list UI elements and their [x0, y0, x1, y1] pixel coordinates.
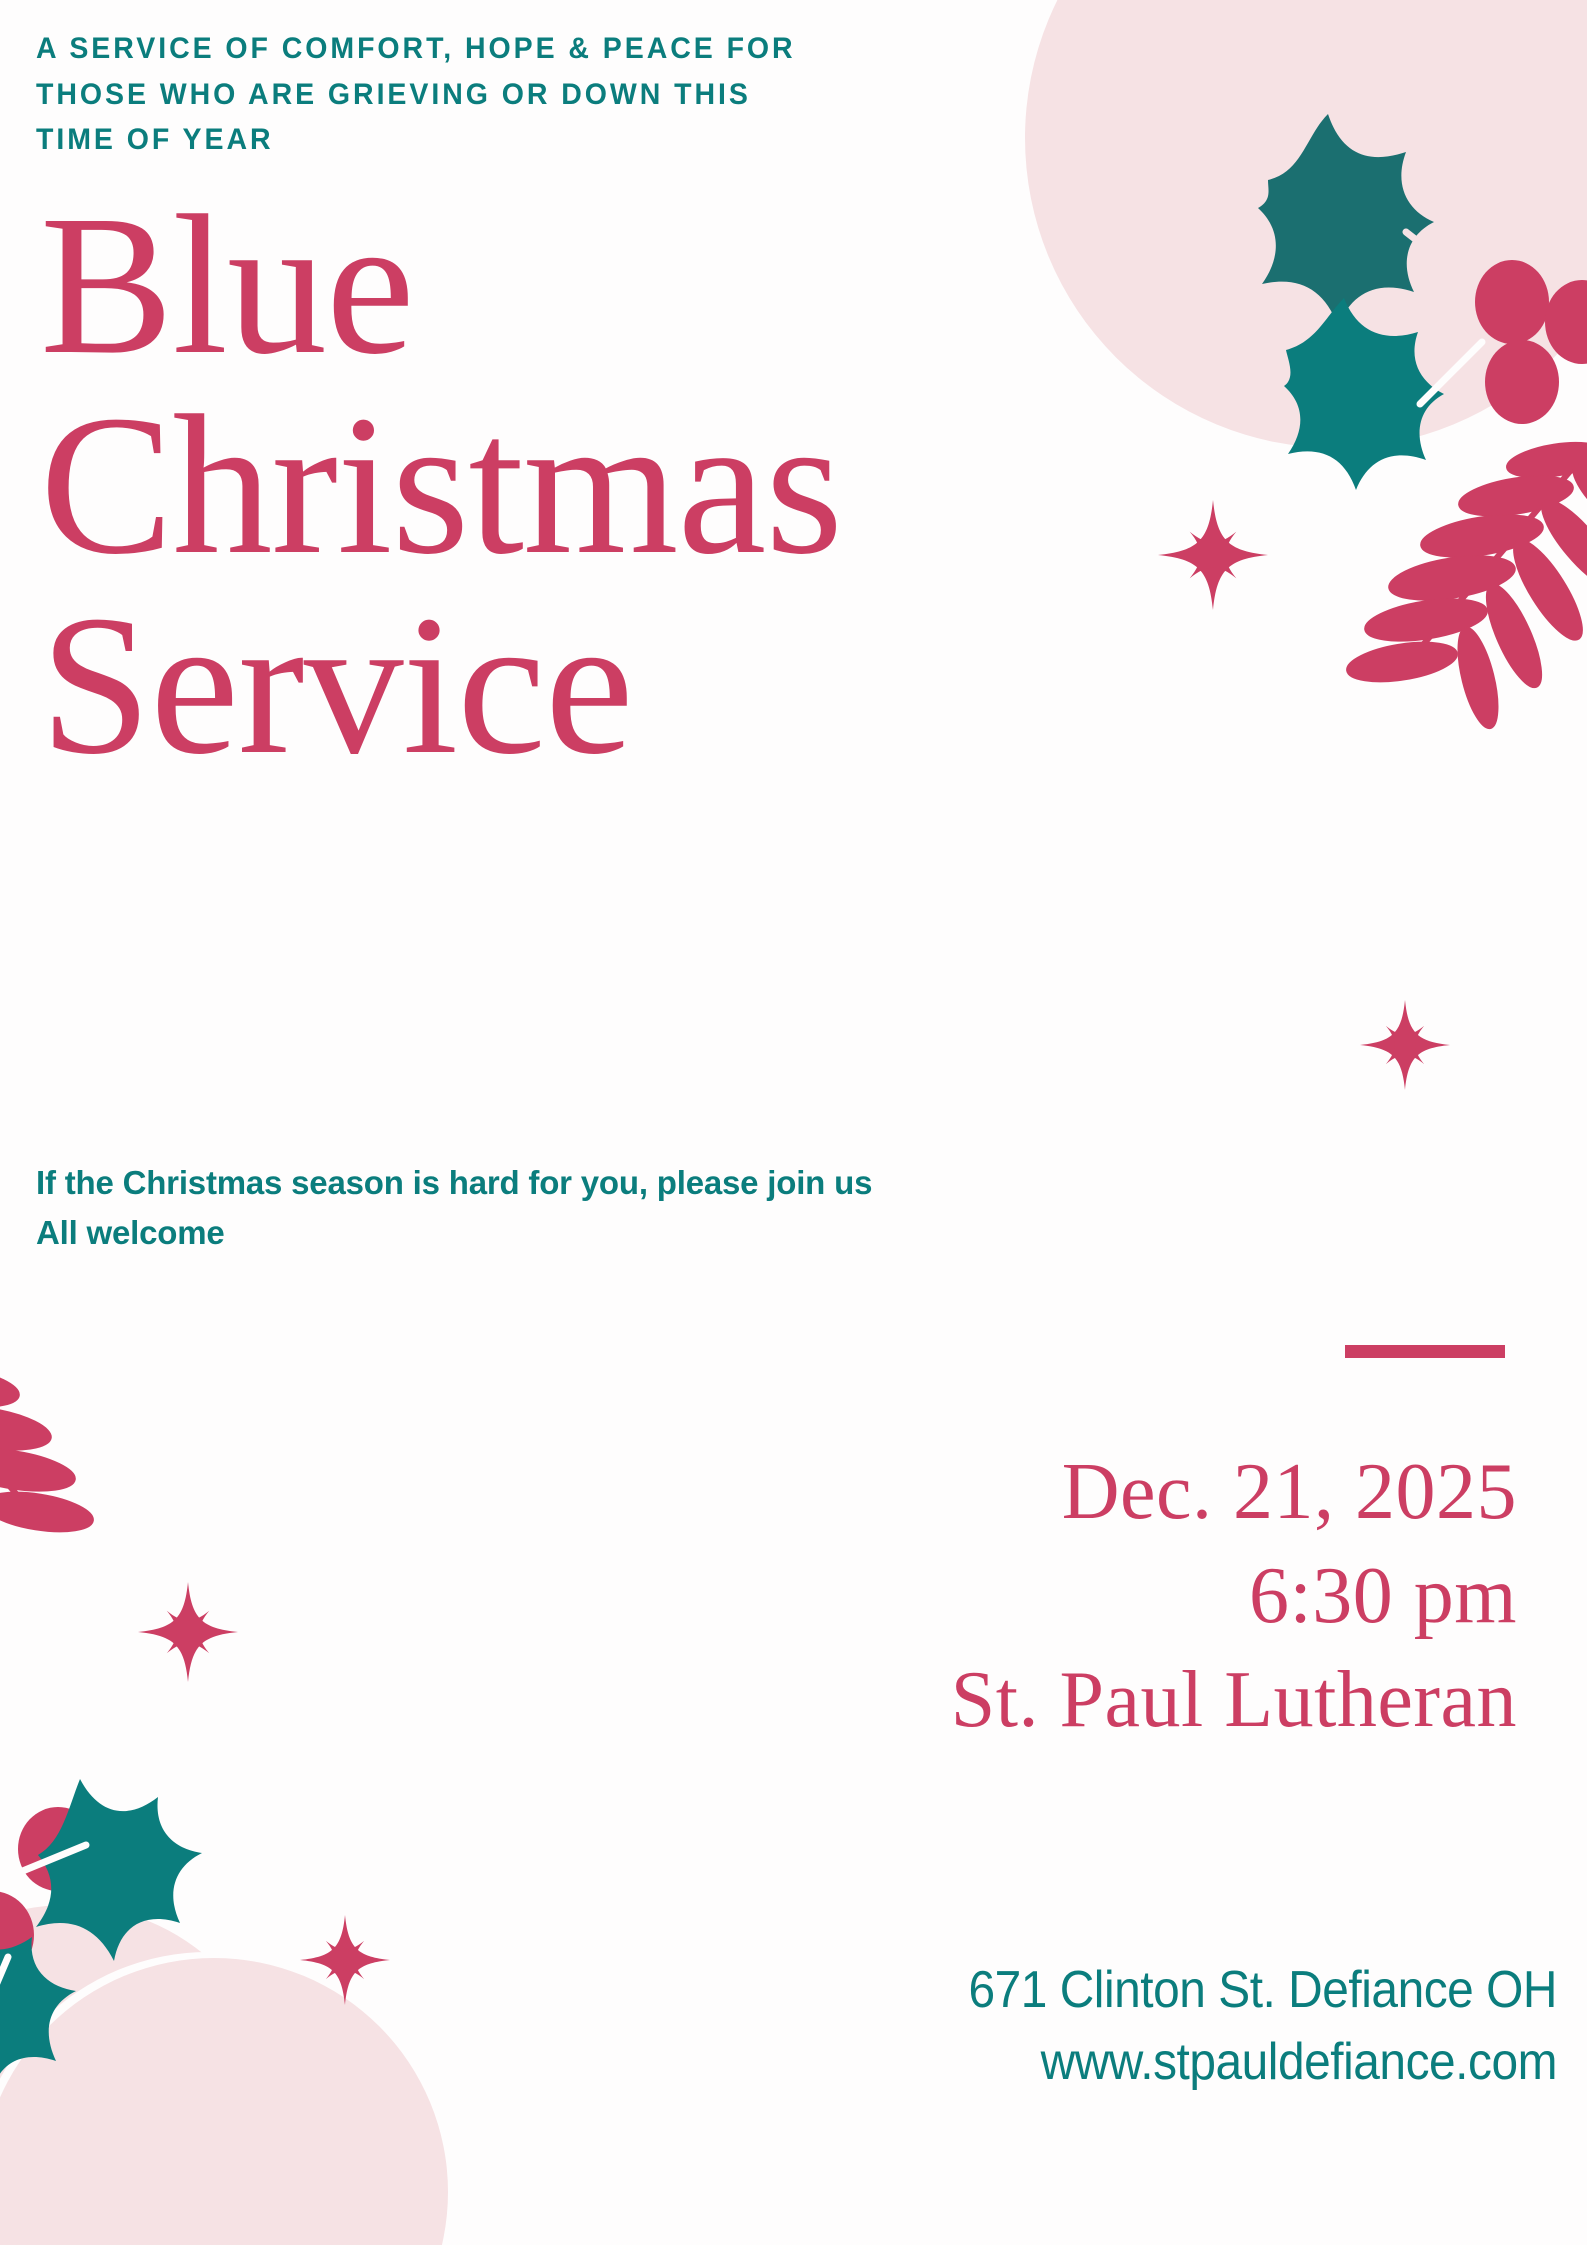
contact-website[interactable]: www.stpauldefiance.com — [453, 2027, 1557, 2099]
fern-frond-left-icon — [0, 1290, 170, 1550]
blush-circle-top-right — [1025, 0, 1587, 448]
fern-frond-right-icon — [1270, 440, 1587, 700]
eyebrow-line-1: A SERVICE OF COMFORT, HOPE & — [36, 32, 592, 65]
poster-canvas: A SERVICE OF COMFORT, HOPE & PEACE FOR T… — [0, 0, 1587, 2245]
eyebrow-text: A SERVICE OF COMFORT, HOPE & PEACE FOR T… — [36, 26, 796, 163]
invitation-line-1: If the Christmas season is hard for you,… — [36, 1158, 1016, 1208]
event-details: Dec. 21, 2025 6:30 pm St. Paul Lutheran — [417, 1440, 1517, 1752]
sparkle-star-mid-right-icon — [1360, 1000, 1450, 1090]
event-time: 6:30 pm — [417, 1544, 1517, 1648]
sparkle-star-lower-left-icon — [138, 1582, 238, 1682]
contact-address: 671 Clinton St. Defiance OH — [453, 1955, 1557, 2027]
invitation-text: If the Christmas season is hard for you,… — [36, 1158, 1016, 1257]
headline-line-3: Service — [40, 586, 990, 786]
event-date: Dec. 21, 2025 — [417, 1440, 1517, 1544]
headline-line-1: Blue — [40, 186, 990, 386]
invitation-line-2: All welcome — [36, 1208, 1016, 1258]
accent-rule — [1345, 1345, 1505, 1358]
sparkle-star-upper-right-icon — [1158, 500, 1268, 610]
page-title: Blue Christmas Service — [40, 186, 990, 786]
contact-details: 671 Clinton St. Defiance OH www.stpaulde… — [453, 1955, 1557, 2099]
headline-line-2: Christmas — [40, 386, 990, 586]
event-venue: St. Paul Lutheran — [417, 1648, 1517, 1752]
